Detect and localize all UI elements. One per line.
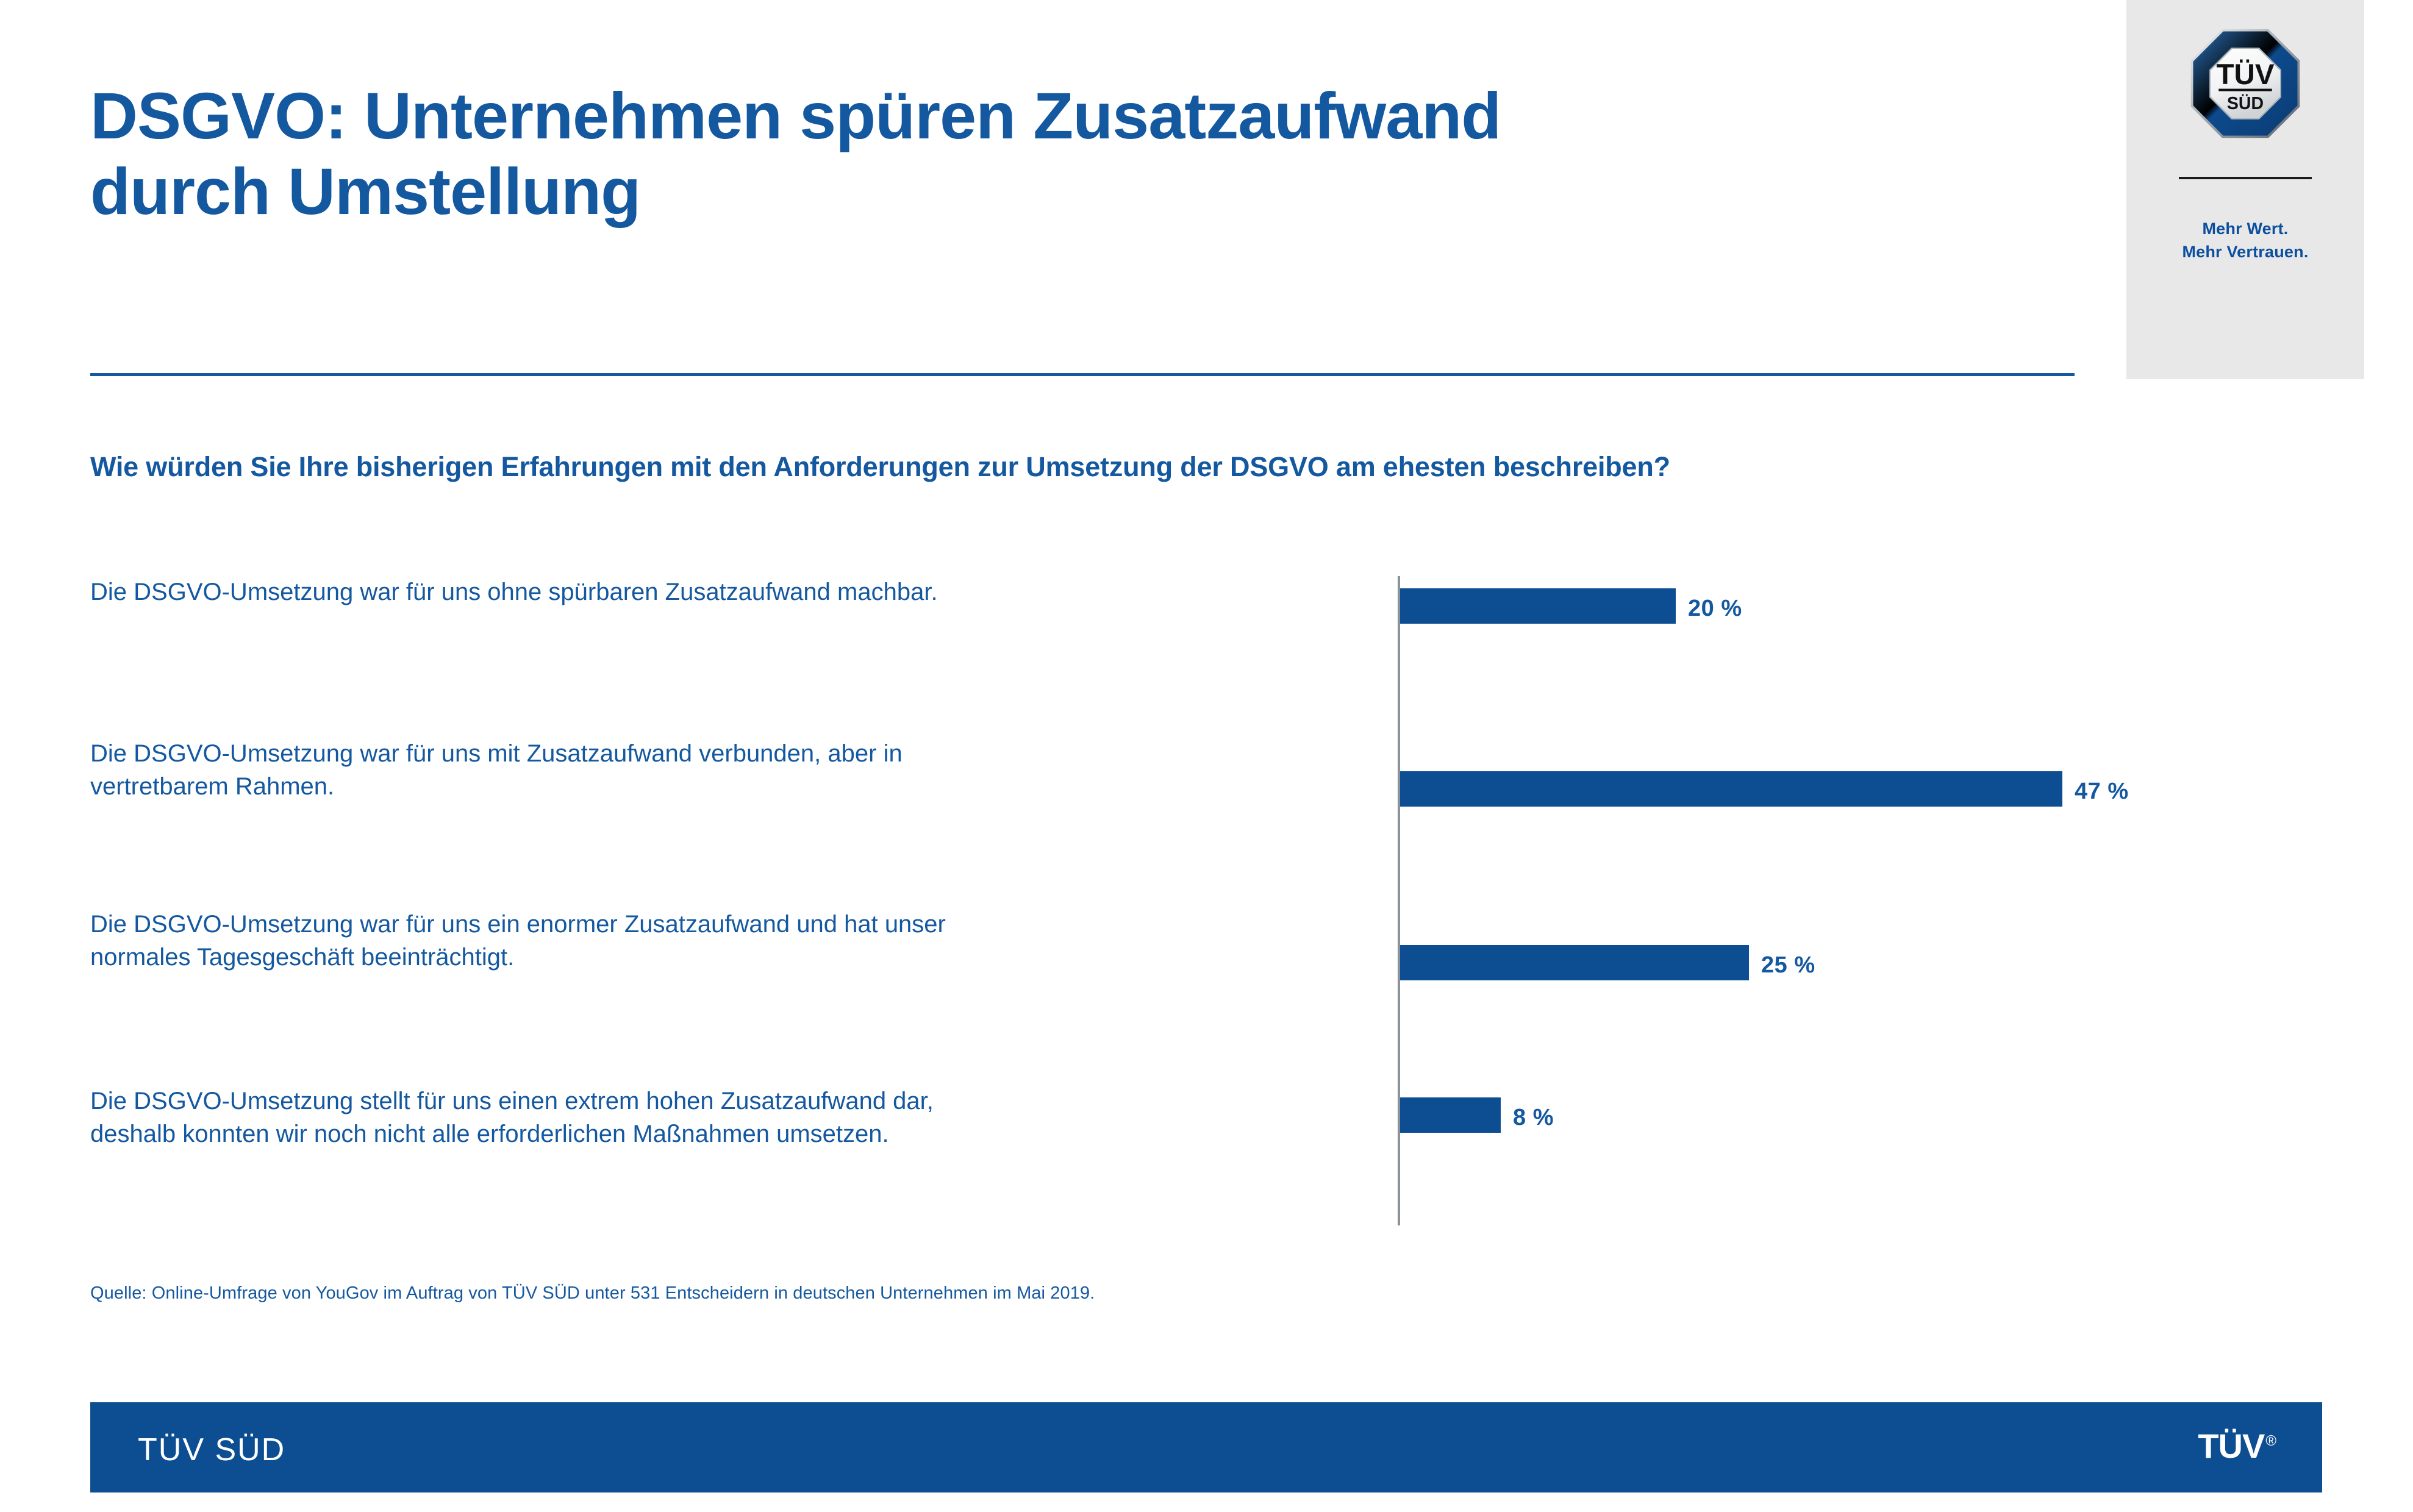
chart-row-label: Die DSGVO-Umsetzung war für uns ohne spü…: [90, 576, 1267, 609]
footer-tuv-mark: TÜV®: [2198, 1429, 2276, 1463]
chart-row-label: Die DSGVO-Umsetzung stellt für uns einen…: [90, 1085, 1267, 1150]
page-title-line2: durch Umstellung: [90, 154, 2042, 229]
chart-row-label-line1: Die DSGVO-Umsetzung war für uns ohne spü…: [90, 576, 1267, 609]
chart-bar-value: 20 %: [1688, 596, 1742, 622]
chart-bar: [1400, 945, 1749, 980]
footer-bar: TÜV SÜD TÜV®: [90, 1402, 2322, 1492]
chart-row-label-line1: Die DSGVO-Umsetzung stellt für uns einen…: [90, 1085, 1267, 1118]
chart-bar-value: 8 %: [1513, 1105, 1554, 1131]
bar-chart: Die DSGVO-Umsetzung war für uns ohne spü…: [90, 576, 2176, 1253]
footer-wordmark: TÜV SÜD: [138, 1432, 285, 1468]
brand-claim-line2: Mehr Vertrauen.: [2182, 240, 2308, 263]
brand-claim-line1: Mehr Wert.: [2182, 217, 2308, 240]
title-divider: [90, 373, 2075, 376]
chart-row-label: Die DSGVO-Umsetzung war für uns mit Zusa…: [90, 738, 1267, 803]
chart-row-label-line1: Die DSGVO-Umsetzung war für uns mit Zusa…: [90, 738, 1267, 771]
page-title-line1: DSGVO: Unternehmen spüren Zusatzaufwand: [90, 78, 2042, 154]
logo-divider: [2179, 177, 2312, 179]
page-title: DSGVO: Unternehmen spüren Zusatzaufwand …: [90, 78, 2042, 229]
footer-tuv-text: TÜV: [2198, 1427, 2264, 1465]
chart-bar-value: 47 %: [2075, 779, 2129, 805]
chart-bar: [1400, 771, 2062, 807]
source-note: Quelle: Online-Umfrage von YouGov im Auf…: [90, 1283, 1095, 1303]
chart-row-label-line1: Die DSGVO-Umsetzung war für uns ein enor…: [90, 908, 1267, 941]
brand-claim: Mehr Wert. Mehr Vertrauen.: [2182, 217, 2308, 264]
chart-row-label-line2: vertretbarem Rahmen.: [90, 771, 1267, 804]
svg-text:SÜD: SÜD: [2227, 94, 2264, 113]
registered-trademark-icon: ®: [2265, 1433, 2276, 1449]
chart-row-label-line2: normales Tagesgeschäft beeinträchtigt.: [90, 941, 1267, 974]
chart-bar: [1400, 1097, 1501, 1133]
svg-text:TÜV: TÜV: [2217, 59, 2275, 91]
chart-row-label-line2: deshalb konnten wir noch nicht alle erfo…: [90, 1118, 1267, 1151]
chart-row-label: Die DSGVO-Umsetzung war für uns ein enor…: [90, 908, 1267, 974]
tuv-sued-seal-icon: TÜV SÜD: [2187, 26, 2303, 141]
chart-bar: [1400, 588, 1676, 624]
chart-bar-value: 25 %: [1761, 952, 1815, 979]
brand-logo-panel: TÜV SÜD Mehr Wert. Mehr Vertrauen.: [2126, 0, 2364, 379]
survey-question: Wie würden Sie Ihre bisherigen Erfahrung…: [90, 451, 2103, 483]
